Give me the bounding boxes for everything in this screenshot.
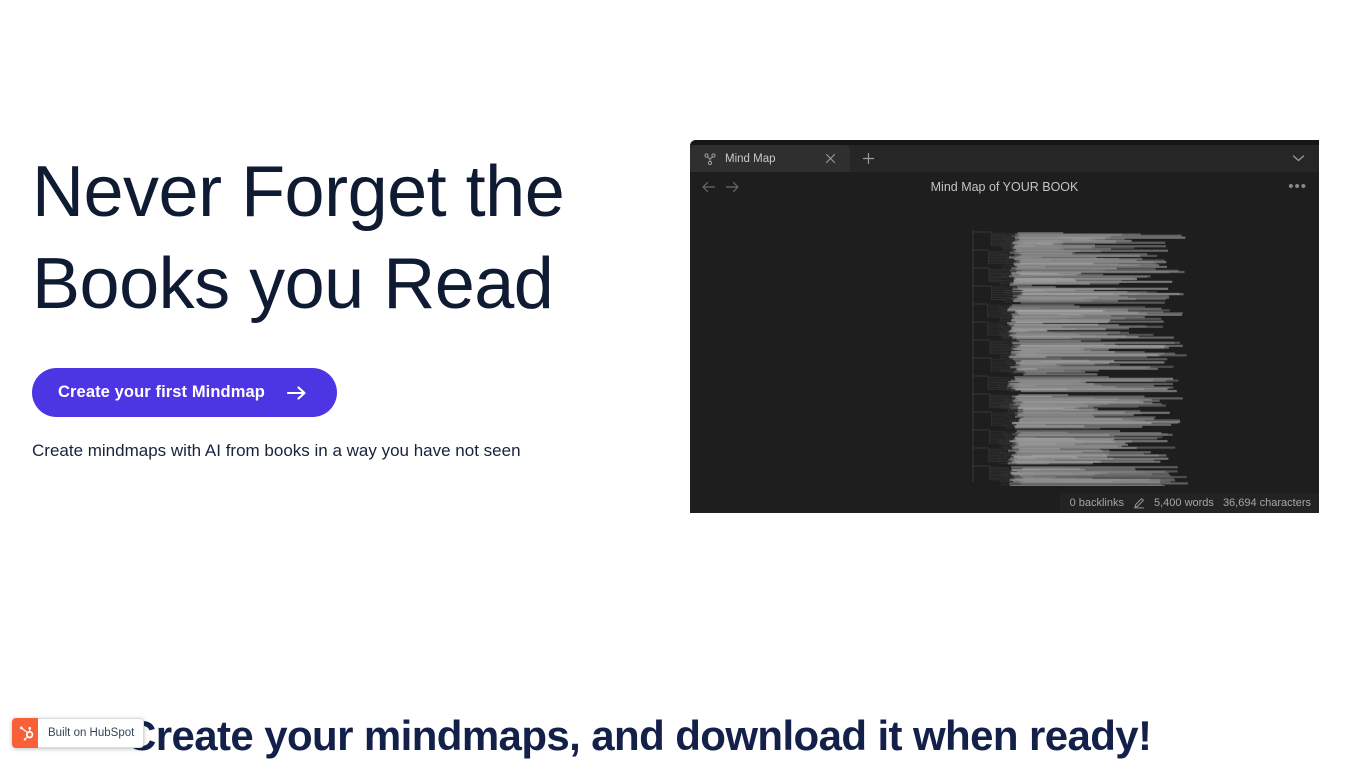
cta-label: Create your first Mindmap: [58, 383, 265, 402]
status-bar: 0 backlinks 5,400 words 36,694 character…: [1060, 493, 1319, 513]
tab-mind-map[interactable]: Mind Map: [690, 145, 850, 172]
ellipsis-icon[interactable]: •••: [1288, 179, 1307, 194]
close-icon[interactable]: [821, 152, 840, 166]
tab-bar-spacer: [887, 145, 1278, 172]
built-on-hubspot-badge[interactable]: Built on HubSpot: [12, 718, 144, 748]
plus-icon[interactable]: [850, 145, 887, 172]
character-count: 36,694 characters: [1223, 497, 1311, 509]
mindmap-canvas[interactable]: 0 backlinks 5,400 words 36,694 character…: [690, 201, 1319, 513]
app-window: Mind Map: [690, 140, 1319, 513]
hero-section: Never Forget the Books you Read Create y…: [32, 146, 672, 463]
document-toolbar: Mind Map of YOUR BOOK •••: [690, 172, 1319, 201]
page-title: Never Forget the Books you Read: [32, 146, 672, 330]
arrow-left-icon[interactable]: [702, 181, 716, 193]
chevron-down-icon[interactable]: [1278, 145, 1319, 172]
cta-wrapper: Create your first Mindmap: [32, 368, 672, 417]
word-count: 5,400 words: [1154, 497, 1214, 509]
document-title: Mind Map of YOUR BOOK: [690, 180, 1319, 194]
arrow-right-icon[interactable]: [725, 181, 739, 193]
mindmap-svg: [955, 226, 1315, 486]
navigation-arrows: [702, 181, 739, 193]
backlinks-count: 0 backlinks: [1070, 497, 1124, 509]
pencil-icon[interactable]: [1133, 497, 1145, 509]
mindmap-branch-icon: [704, 153, 716, 165]
tab-bar: Mind Map: [690, 145, 1319, 172]
tab-title: Mind Map: [725, 153, 812, 165]
hero-subtitle: Create mindmaps with AI from books in a …: [32, 439, 672, 463]
create-first-mindmap-button[interactable]: Create your first Mindmap: [32, 368, 337, 417]
section-headline: Create your mindmaps, and download it wh…: [126, 712, 1151, 760]
mindmap-graph[interactable]: [955, 226, 1315, 486]
hubspot-badge-label: Built on HubSpot: [38, 718, 144, 748]
arrow-right-icon: [287, 385, 307, 401]
